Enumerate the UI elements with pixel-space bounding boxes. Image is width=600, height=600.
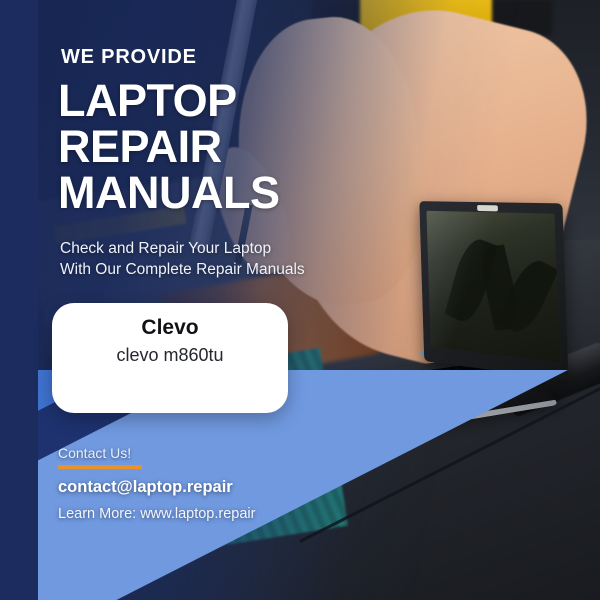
content-layer: WE PROVIDE LAPTOP REPAIR MANUALS Check a… (0, 0, 600, 600)
subtitle: Check and Repair Your Laptop With Our Co… (60, 238, 305, 280)
contact-underline (58, 465, 142, 469)
subtitle-line-2: With Our Complete Repair Manuals (60, 259, 305, 280)
product-model: clevo m860tu (116, 342, 223, 368)
contact-label: Contact Us! (58, 444, 255, 462)
eyebrow-text: WE PROVIDE (61, 47, 197, 67)
product-card[interactable]: Clevo clevo m860tu (52, 303, 288, 413)
subtitle-line-1: Check and Repair Your Laptop (60, 238, 305, 259)
contact-section: Contact Us! contact@laptop.repair Learn … (58, 444, 255, 524)
headline-line-3: MANUALS (58, 170, 279, 216)
headline-line-2: REPAIR (58, 124, 279, 170)
page-title: LAPTOP REPAIR MANUALS (58, 78, 279, 216)
contact-email[interactable]: contact@laptop.repair (58, 476, 255, 498)
headline-line-1: LAPTOP (58, 78, 279, 124)
product-brand: Clevo (141, 314, 198, 342)
contact-learn-more[interactable]: Learn More: www.laptop.repair (58, 504, 255, 524)
poster: WE PROVIDE LAPTOP REPAIR MANUALS Check a… (0, 0, 600, 600)
